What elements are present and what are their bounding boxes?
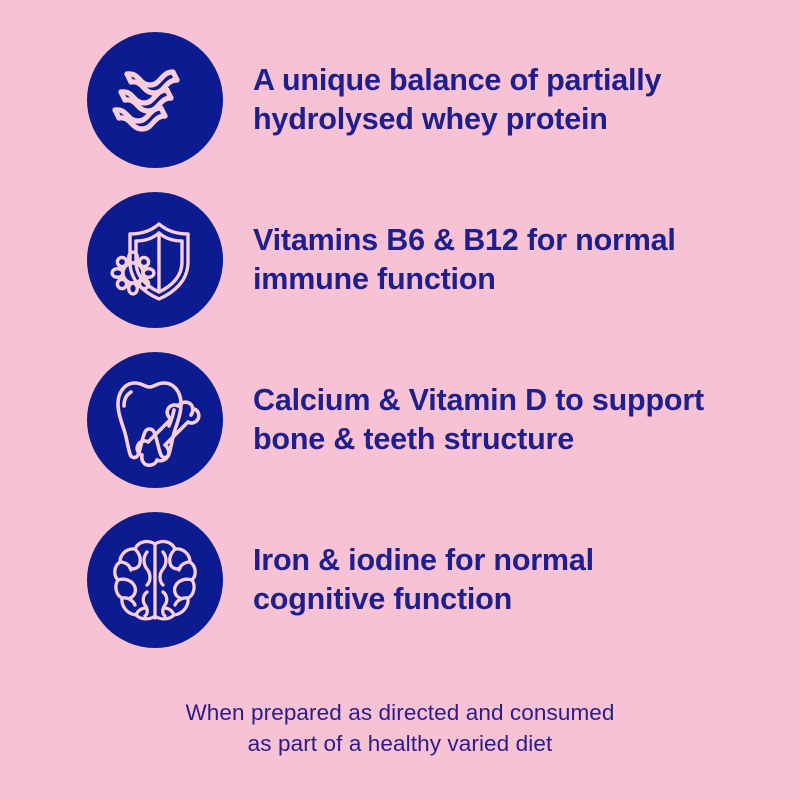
protein-helix-icon	[87, 32, 223, 168]
feature-text-line: hydrolysed whey protein	[253, 100, 661, 139]
footer-disclaimer-line: as part of a healthy varied diet	[0, 729, 800, 760]
benefits-panel: A unique balance of partially hydrolysed…	[0, 0, 800, 800]
feature-text-line: cognitive function	[253, 580, 594, 619]
feature-text-line: Calcium & Vitamin D to support	[253, 381, 704, 420]
feature-text-protein: A unique balance of partially hydrolysed…	[253, 61, 661, 139]
feature-text-line: immune function	[253, 260, 676, 299]
footer-disclaimer-line: When prepared as directed and consumed	[0, 698, 800, 729]
feature-text-line: bone & teeth structure	[253, 420, 704, 459]
feature-list: A unique balance of partially hydrolysed…	[0, 20, 800, 660]
feature-text-bone-teeth: Calcium & Vitamin D to support bone & te…	[253, 381, 704, 459]
feature-text-immune: Vitamins B6 & B12 for normal immune func…	[253, 221, 676, 299]
feature-row-immune: Vitamins B6 & B12 for normal immune func…	[0, 180, 800, 340]
feature-text-line: Vitamins B6 & B12 for normal	[253, 221, 676, 260]
footer-disclaimer: When prepared as directed and consumed a…	[0, 698, 800, 759]
feature-row-bone-teeth: Calcium & Vitamin D to support bone & te…	[0, 340, 800, 500]
tooth-bone-icon	[87, 352, 223, 488]
shield-virus-icon	[87, 192, 223, 328]
feature-text-cognitive: Iron & iodine for normal cognitive funct…	[253, 541, 594, 619]
feature-text-line: Iron & iodine for normal	[253, 541, 594, 580]
feature-row-cognitive: Iron & iodine for normal cognitive funct…	[0, 500, 800, 660]
feature-text-line: A unique balance of partially	[253, 61, 661, 100]
brain-icon	[87, 512, 223, 648]
feature-row-protein: A unique balance of partially hydrolysed…	[0, 20, 800, 180]
